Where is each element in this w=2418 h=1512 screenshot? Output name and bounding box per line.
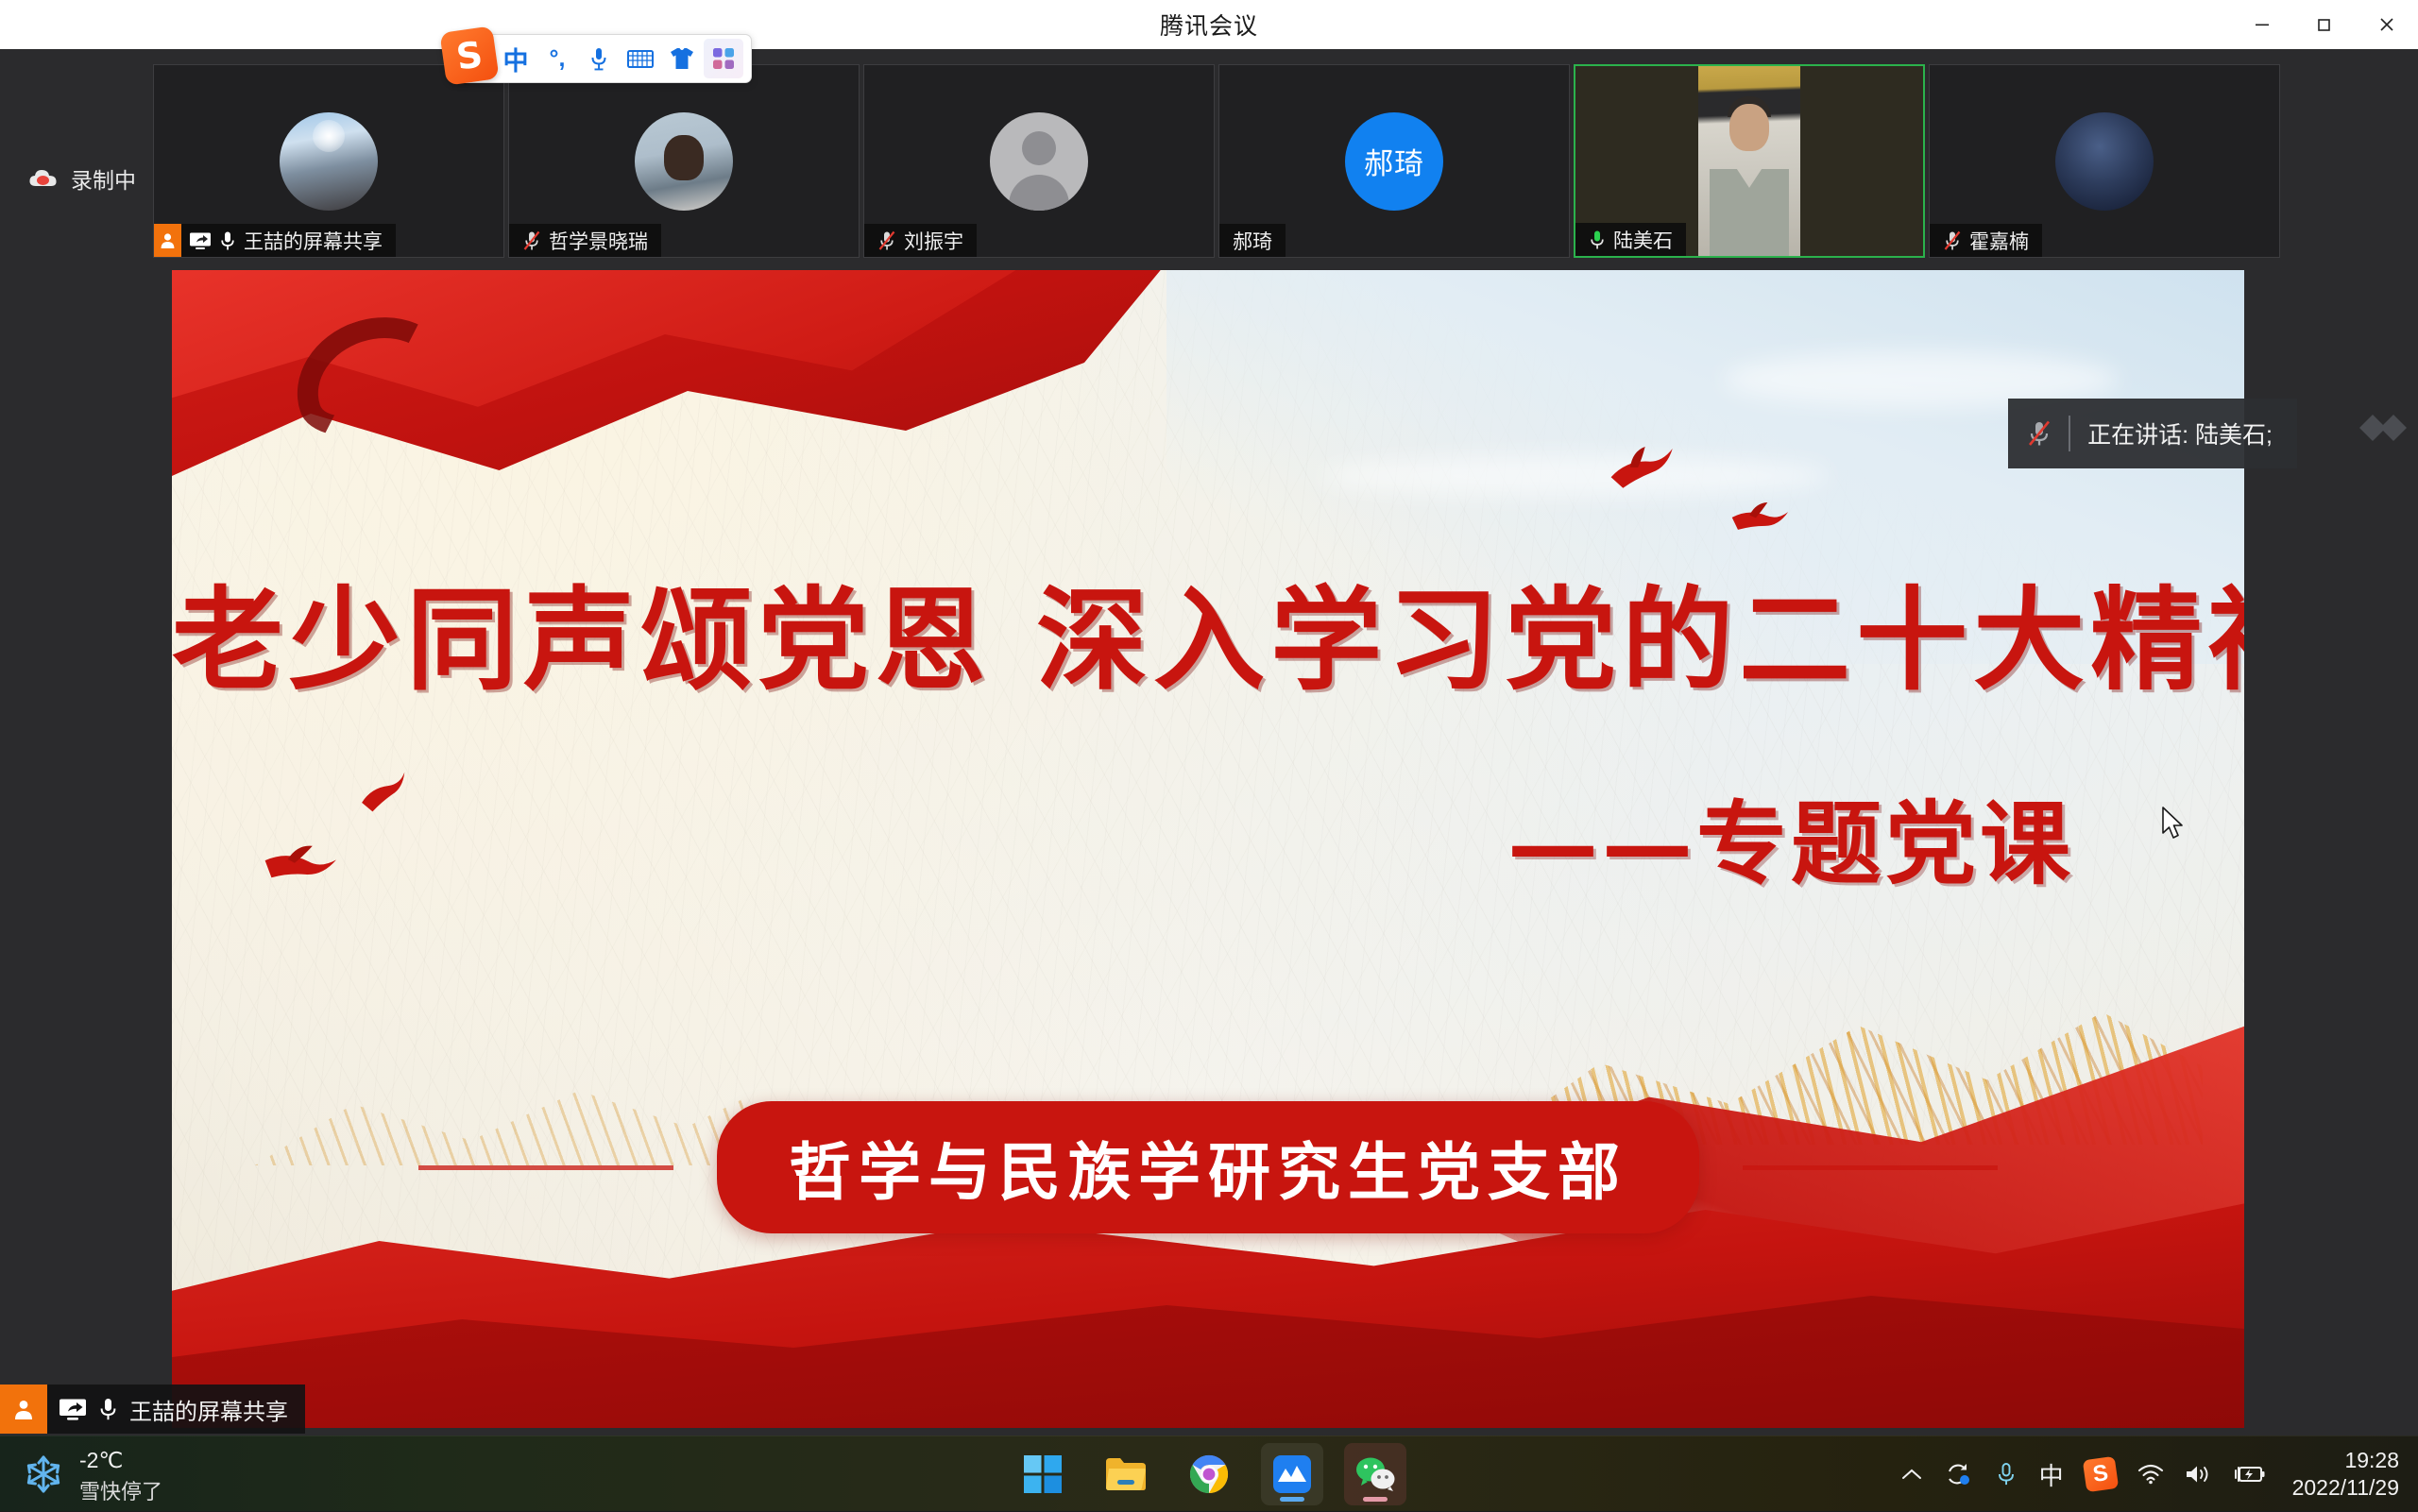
divider: [2069, 416, 2070, 451]
mic-active-icon: [1589, 229, 1606, 250]
organization-badge: 哲学与民族学研究生党支部: [717, 1101, 1699, 1233]
speaking-tooltip: 正在讲话: 陆美石;: [2008, 399, 2297, 468]
page-title: 腾讯会议: [0, 8, 2418, 42]
participant-tile-haoqi[interactable]: 郝琦 郝琦: [1218, 64, 1570, 258]
start-button[interactable]: [1012, 1443, 1074, 1505]
sogou-tray-icon[interactable]: S: [2085, 1454, 2117, 1494]
taskbar-clock[interactable]: 19:28 2022/11/29: [2292, 1447, 2399, 1502]
cloud-recording-icon: [28, 167, 59, 190]
participant-tile-liuzhenyu[interactable]: 刘振宇: [863, 64, 1215, 258]
show-hidden-icons-button[interactable]: [1899, 1454, 1924, 1494]
person-icon: [0, 1385, 47, 1434]
screen-share-overlay: 王喆的屏幕共享: [0, 1385, 305, 1434]
participant-name: 陆美石: [1613, 226, 1673, 254]
participant-tile-wangzhe[interactable]: 王喆的屏幕共享: [153, 64, 504, 258]
maximize-restore-button[interactable]: [2293, 0, 2356, 49]
windows-taskbar: -2℃ 雪快停了: [0, 1436, 2418, 1511]
taskbar-weather-widget[interactable]: -2℃ 雪快停了: [23, 1448, 162, 1505]
participant-label: 陆美石: [1575, 223, 1686, 256]
shared-slide: 老少同声颂党恩 深入学习党的二十大精神 ——专题党课 哲学与民族学研究生党支部: [172, 270, 2244, 1428]
participant-name: 哲学景晓瑞: [549, 227, 648, 255]
taskbar-app-icons: [1012, 1436, 1406, 1512]
host-icon: [154, 224, 181, 257]
skin-icon[interactable]: [662, 39, 702, 78]
mouse-cursor: [2161, 807, 2186, 845]
avatar: [280, 112, 378, 211]
file-explorer-icon[interactable]: [1095, 1443, 1157, 1505]
avatar: [635, 112, 733, 211]
mic-muted-icon: [2027, 419, 2052, 448]
mic-muted-icon: [522, 230, 541, 251]
sogou-logo-icon[interactable]: S: [439, 25, 499, 85]
default-avatar-icon: [990, 112, 1088, 211]
slide-title: 老少同声颂党恩 深入学习党的二十大精神: [172, 582, 2244, 699]
screen-share-icon: [189, 231, 212, 250]
wechat-icon[interactable]: [1344, 1443, 1406, 1505]
snowflake-icon: [23, 1453, 64, 1500]
ime-indicator[interactable]: 中: [2039, 1454, 2064, 1494]
tencent-meeting-icon[interactable]: [1261, 1443, 1323, 1505]
mic-icon: [98, 1397, 118, 1421]
clock-date: 2022/11/29: [2292, 1474, 2399, 1502]
sogou-ime-toolbar[interactable]: S 中 °,: [455, 34, 752, 83]
collapse-panel-handle[interactable]: [2358, 408, 2410, 448]
mic-icon: [219, 230, 236, 251]
participant-tile-lumeishi[interactable]: 陆美石: [1574, 64, 1925, 258]
running-indicator: [1363, 1497, 1388, 1502]
participant-label: 哲学景晓瑞: [509, 224, 661, 257]
avatar: [2055, 112, 2154, 211]
voice-input-icon[interactable]: [579, 39, 619, 78]
volume-icon[interactable]: [2185, 1454, 2213, 1494]
screen-share-icon: [59, 1398, 87, 1421]
sync-icon[interactable]: [1945, 1454, 1973, 1494]
recording-label: 录制中: [71, 162, 136, 195]
participant-strip: 录制中: [0, 49, 2418, 264]
participant-name: 郝琦: [1233, 227, 1272, 255]
system-tray: 中 S: [1899, 1436, 2399, 1512]
wifi-icon[interactable]: [2137, 1454, 2164, 1494]
speaking-tooltip-text: 正在讲话: 陆美石;: [2087, 416, 2273, 450]
slide-subtitle: ——专题党课: [1507, 771, 2074, 902]
window-title-bar: 腾讯会议: [0, 0, 2418, 49]
chinese-mode-icon[interactable]: 中: [496, 39, 536, 78]
mic-muted-icon: [877, 230, 896, 251]
decorative-rule-right: [1743, 1165, 1998, 1170]
shared-content-stage: 老少同声颂党恩 深入学习党的二十大精神 ——专题党课 哲学与民族学研究生党支部 …: [0, 264, 2418, 1436]
screen-share-label: 王喆的屏幕共享: [129, 1393, 288, 1426]
participant-label: 霍嘉楠: [1930, 224, 2042, 257]
clock-time: 19:28: [2344, 1447, 2399, 1474]
participant-tiles: 王喆的屏幕共享 哲学景晓瑞: [153, 64, 2280, 258]
participant-name: 王喆的屏幕共享: [244, 227, 383, 255]
slide-organization-row: 哲学与民族学研究生党支部: [172, 1101, 2244, 1233]
participant-label: 郝琦: [1219, 224, 1286, 257]
soft-keyboard-icon[interactable]: [621, 39, 660, 78]
participant-name: 刘振宇: [904, 227, 963, 255]
participant-tile-huojianan[interactable]: 霍嘉楠: [1929, 64, 2280, 258]
decorative-rule-left: [418, 1165, 673, 1170]
chrome-browser-icon[interactable]: [1178, 1443, 1240, 1505]
toolbox-icon[interactable]: [704, 39, 743, 78]
avatar-initials: 郝琦: [1345, 112, 1443, 211]
minimize-button[interactable]: [2231, 0, 2293, 49]
punctuation-mode-icon[interactable]: °,: [537, 39, 577, 78]
microphone-icon[interactable]: [1994, 1454, 2018, 1494]
battery-charging-icon[interactable]: [2234, 1454, 2266, 1494]
close-button[interactable]: [2356, 0, 2418, 49]
participant-tile-zhexuejingxiaorui[interactable]: 哲学景晓瑞: [508, 64, 860, 258]
participant-label: 王喆的屏幕共享: [154, 224, 396, 257]
running-indicator: [1280, 1497, 1304, 1502]
mic-muted-icon: [1943, 230, 1962, 251]
window-controls: [2231, 0, 2418, 49]
dove-icon: [1728, 493, 1792, 542]
weather-condition: 雪快停了: [79, 1475, 162, 1505]
participant-name: 霍嘉楠: [1969, 227, 2029, 255]
weather-temperature: -2℃: [79, 1448, 162, 1473]
recording-indicator: 录制中: [28, 162, 136, 195]
cloud-graphic: [1320, 455, 1830, 497]
participant-label: 刘振宇: [864, 224, 977, 257]
